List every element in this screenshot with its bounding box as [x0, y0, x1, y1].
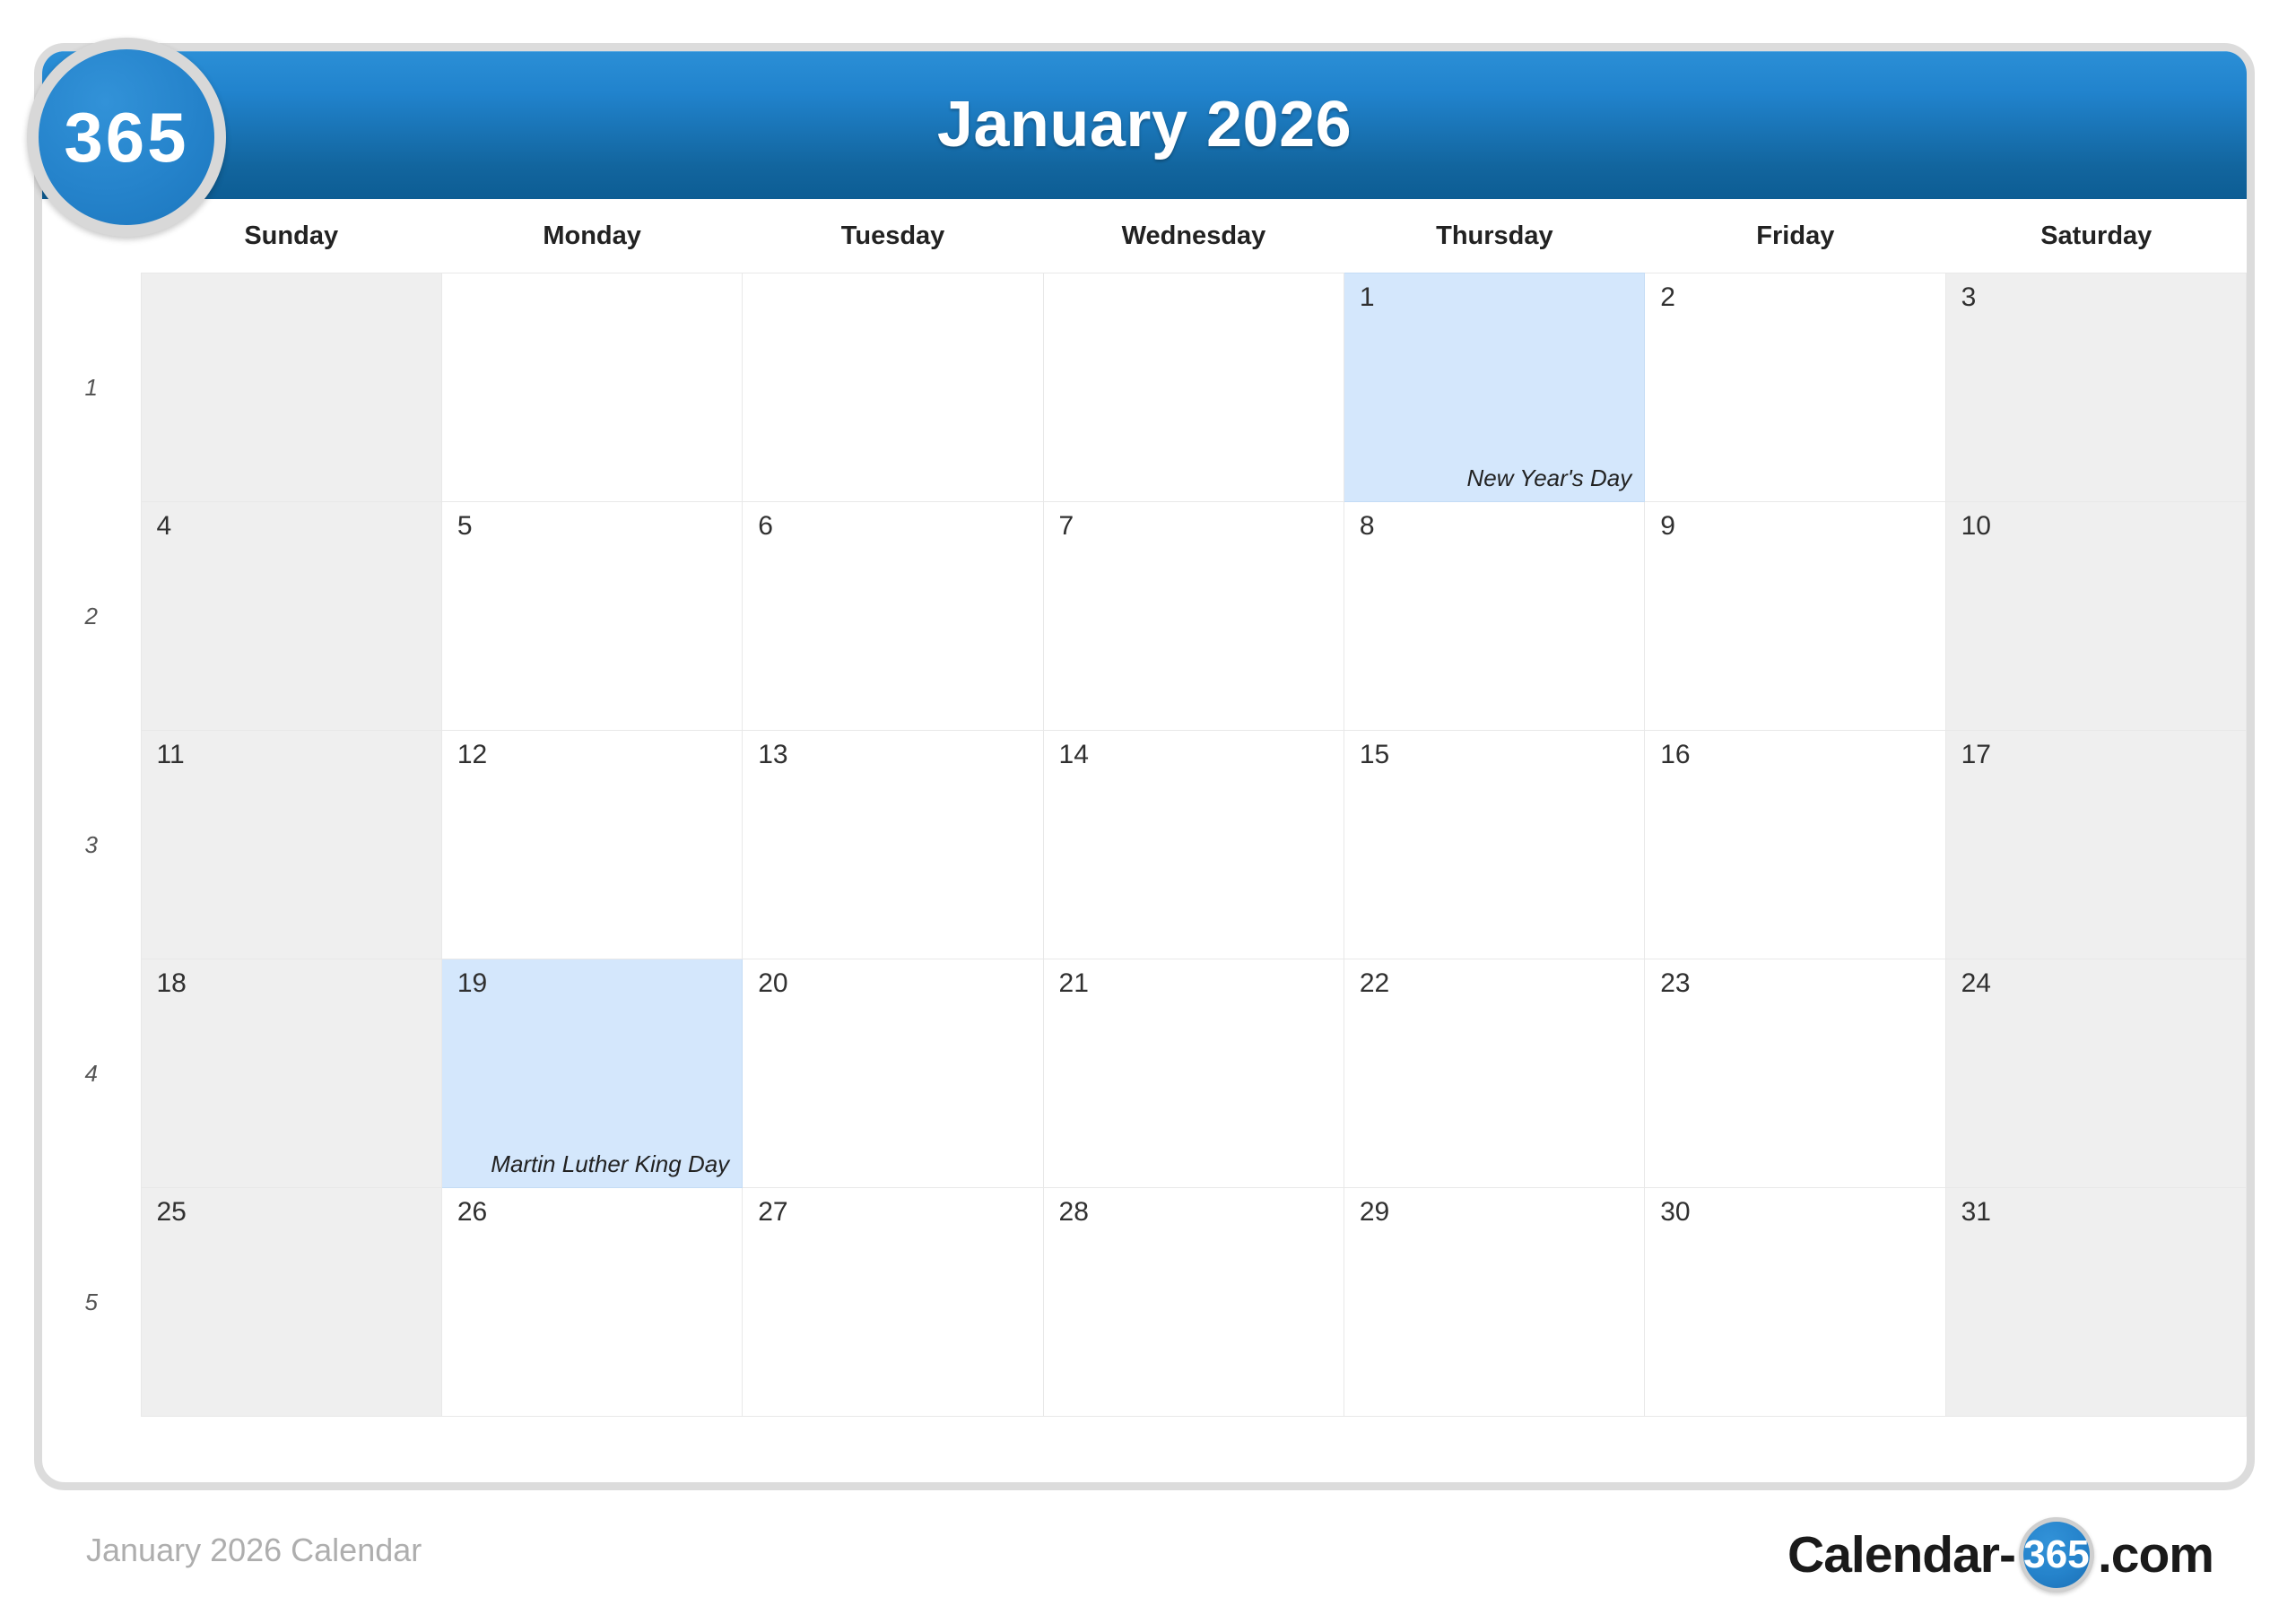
calendar-day-cell-friday[interactable]: 30	[1645, 1188, 1945, 1417]
calendar-day-cell-empty	[743, 273, 1043, 502]
day-number: 3	[1961, 284, 1977, 311]
calendar-day-cell-monday[interactable]: 5	[441, 502, 742, 731]
calendar-day-cell-empty	[141, 273, 441, 502]
calendar-day-cell-empty	[441, 273, 742, 502]
calendar-week-row: 41819Martin Luther King Day2021222324	[42, 959, 2247, 1188]
day-number: 7	[1059, 513, 1074, 540]
week-number-cell: 2	[42, 502, 141, 731]
calendar-day-cell-wednesday[interactable]: 14	[1043, 731, 1344, 959]
calendar-day-cell-thursday[interactable]: 22	[1344, 959, 1644, 1188]
day-number: 18	[157, 970, 187, 997]
site-logo-left-text: Calendar-	[1787, 1525, 2015, 1584]
day-number: 8	[1360, 513, 1375, 540]
day-number: 5	[457, 513, 473, 540]
calendar-day-cell-sunday[interactable]: 25	[141, 1188, 441, 1417]
day-number: 29	[1360, 1199, 1389, 1226]
calendar-grid: 11New Year's Day232456789103111213141516…	[42, 273, 2247, 1417]
calendar-day-cell-saturday[interactable]: 10	[1945, 502, 2246, 731]
day-number: 19	[457, 970, 487, 997]
day-number: 4	[157, 513, 172, 540]
day-number: 12	[457, 742, 487, 768]
day-number: 17	[1961, 742, 1991, 768]
calendar-day-cell-friday[interactable]: 9	[1645, 502, 1945, 731]
day-number: 22	[1360, 970, 1389, 997]
holiday-label: New Year's Day	[1467, 464, 1632, 492]
day-number: 16	[1660, 742, 1690, 768]
calendar-day-cell-monday[interactable]: 19Martin Luther King Day	[441, 959, 742, 1188]
calendar-day-cell-tuesday[interactable]: 13	[743, 731, 1043, 959]
weekday-header-thursday: Thursday	[1344, 199, 1645, 273]
day-number: 28	[1059, 1199, 1089, 1226]
calendar-day-cell-wednesday[interactable]: 21	[1043, 959, 1344, 1188]
day-number: 2	[1660, 284, 1675, 311]
weekday-header-friday: Friday	[1645, 199, 1945, 273]
calendar-day-cell-tuesday[interactable]: 6	[743, 502, 1043, 731]
week-number-cell: 5	[42, 1188, 141, 1417]
site-logo-right-text: .com	[2098, 1525, 2213, 1584]
calendar-day-cell-empty	[1043, 273, 1344, 502]
day-number: 23	[1660, 970, 1690, 997]
calendar-day-cell-tuesday[interactable]: 20	[743, 959, 1043, 1188]
calendar-day-cell-sunday[interactable]: 11	[141, 731, 441, 959]
calendar-day-cell-thursday[interactable]: 1New Year's Day	[1344, 273, 1644, 502]
day-number: 30	[1660, 1199, 1690, 1226]
calendar-week-row: 245678910	[42, 502, 2247, 731]
calendar-day-cell-tuesday[interactable]: 27	[743, 1188, 1043, 1417]
week-number-cell: 4	[42, 959, 141, 1188]
calendar-day-cell-saturday[interactable]: 3	[1945, 273, 2246, 502]
site-logo-circle-label: 365	[2023, 1522, 2090, 1588]
day-number: 21	[1059, 970, 1089, 997]
day-number: 26	[457, 1199, 487, 1226]
day-number: 6	[758, 513, 773, 540]
calendar-day-cell-wednesday[interactable]: 28	[1043, 1188, 1344, 1417]
calendar-day-cell-saturday[interactable]: 17	[1945, 731, 2246, 959]
site-logo-circle-icon: 365	[2019, 1517, 2094, 1593]
calendar-day-cell-sunday[interactable]: 18	[141, 959, 441, 1188]
day-number: 14	[1059, 742, 1089, 768]
site-logo[interactable]: Calendar- 365 .com	[1787, 1521, 2213, 1589]
day-number: 1	[1360, 284, 1375, 311]
week-number-cell: 1	[42, 273, 141, 502]
logo-badge-365: 365	[27, 38, 226, 237]
calendar-week-row: 11New Year's Day23	[42, 273, 2247, 502]
day-number: 31	[1961, 1199, 1991, 1226]
calendar-day-cell-wednesday[interactable]: 7	[1043, 502, 1344, 731]
weekday-header-monday: Monday	[441, 199, 742, 273]
calendar-day-cell-thursday[interactable]: 8	[1344, 502, 1644, 731]
day-number: 9	[1660, 513, 1675, 540]
day-number: 11	[157, 742, 185, 768]
page-title: January 2026	[42, 51, 2247, 199]
calendar-header-bar: January 2026	[42, 51, 2247, 199]
calendar-day-cell-saturday[interactable]: 31	[1945, 1188, 2246, 1417]
calendar-day-cell-sunday[interactable]: 4	[141, 502, 441, 731]
footer-caption: January 2026 Calendar	[86, 1532, 422, 1569]
calendar-day-cell-saturday[interactable]: 24	[1945, 959, 2246, 1188]
holiday-label: Martin Luther King Day	[491, 1150, 729, 1178]
calendar-day-cell-monday[interactable]: 12	[441, 731, 742, 959]
day-number: 20	[758, 970, 787, 997]
calendar-grid-wrapper: 365 11New Year's Day23245678910311121314…	[42, 273, 2247, 1482]
calendar-day-cell-thursday[interactable]: 15	[1344, 731, 1644, 959]
page-footer: January 2026 Calendar Calendar- 365 .com	[0, 1515, 2296, 1623]
logo-badge-365-label: 365	[39, 49, 214, 225]
week-number-cell: 3	[42, 731, 141, 959]
calendar-day-cell-friday[interactable]: 2	[1645, 273, 1945, 502]
calendar-week-row: 311121314151617	[42, 731, 2247, 959]
calendar-day-cell-thursday[interactable]: 29	[1344, 1188, 1644, 1417]
day-number: 25	[157, 1199, 187, 1226]
calendar-day-cell-monday[interactable]: 26	[441, 1188, 742, 1417]
day-number: 15	[1360, 742, 1389, 768]
weekday-header-wednesday: Wednesday	[1043, 199, 1344, 273]
day-number: 24	[1961, 970, 1991, 997]
day-number: 27	[758, 1199, 787, 1226]
calendar-day-cell-friday[interactable]: 23	[1645, 959, 1945, 1188]
calendar-page: January 2026 Sunday Monday Tuesday Wedne…	[0, 0, 2296, 1623]
day-number: 10	[1961, 513, 1991, 540]
day-number: 13	[758, 742, 787, 768]
calendar-card: January 2026 Sunday Monday Tuesday Wedne…	[34, 43, 2255, 1490]
calendar-week-row: 525262728293031	[42, 1188, 2247, 1417]
weekday-header-saturday: Saturday	[1946, 199, 2247, 273]
weekday-header-row: Sunday Monday Tuesday Wednesday Thursday…	[42, 199, 2247, 273]
calendar-day-cell-friday[interactable]: 16	[1645, 731, 1945, 959]
weekday-header-tuesday: Tuesday	[743, 199, 1043, 273]
